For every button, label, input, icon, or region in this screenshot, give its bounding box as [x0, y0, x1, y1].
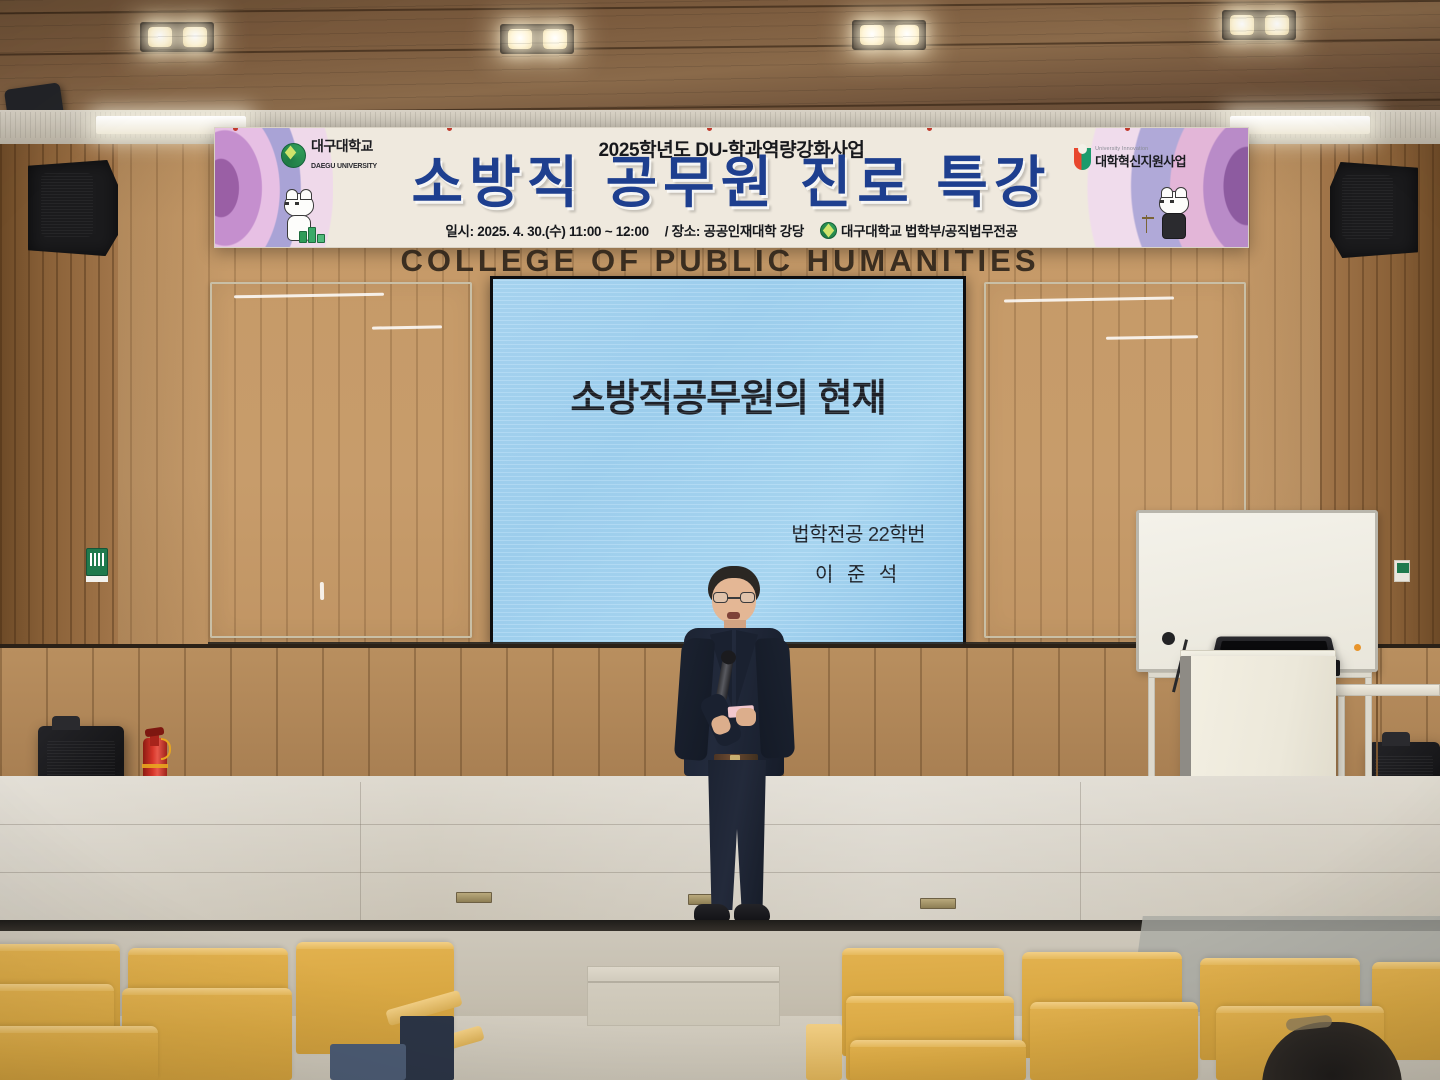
- stage-tile-seam: [360, 782, 361, 926]
- stage-floor-outlet: [920, 898, 956, 909]
- event-banner: 대구대학교 DAEGU UNIVERSITY University Innova…: [214, 127, 1249, 248]
- presenter-arm-right: [755, 637, 795, 759]
- slide-title: 소방직공무원의 현재: [493, 367, 963, 422]
- auditorium-seat-back[interactable]: [0, 1026, 158, 1080]
- cove-light: [1230, 116, 1370, 134]
- banner-main-title: 소방직 공무원 진로 특강: [215, 154, 1248, 213]
- presenter: [672, 566, 796, 932]
- banner-dept-label: 대구대학교 법학부/공직법무전공: [841, 220, 1018, 240]
- whiteboard-magnet-icon: [1354, 644, 1361, 651]
- ceiling-seam: [0, 0, 1440, 15]
- college-wall-lettering: COLLEGE OF PUBLIC HUMANITIES: [0, 243, 1440, 279]
- banner-date: 일시: 2025. 4. 30.(수) 11:00 ~ 12:00: [445, 220, 648, 240]
- seat-side-panel: [400, 1016, 454, 1080]
- wall-speaker-left: [28, 160, 118, 256]
- ceiling-seam: [0, 38, 1440, 56]
- ceiling: [0, 0, 1440, 118]
- presenter-mouth: [727, 612, 740, 619]
- tiger-mascot-left-icon: [277, 191, 321, 243]
- glasses-icon: [713, 592, 755, 603]
- daegu-university-emblem-small-icon: [820, 222, 837, 239]
- ceiling-downlight-icon: [1222, 10, 1296, 40]
- stage-step-block: [587, 966, 780, 1026]
- seat-armrest: [806, 1024, 842, 1080]
- ceiling-downlight-icon: [140, 22, 214, 52]
- exit-sign-base: [86, 576, 108, 582]
- stage-tile-seam: [1080, 782, 1081, 926]
- slide-affiliation: 법학전공 22학번: [791, 524, 925, 546]
- tiger-mascot-judge-icon: [1152, 189, 1196, 241]
- auditorium-photo: 대구대학교 DAEGU UNIVERSITY University Innova…: [0, 0, 1440, 1080]
- banner-subline: 일시: 2025. 4. 30.(수) 11:00 ~ 12:00 / 장소: …: [215, 220, 1248, 240]
- banner-pins: [215, 127, 1248, 134]
- auditorium-seat-back[interactable]: [850, 1040, 1026, 1080]
- exit-sign-icon: [86, 548, 108, 576]
- door-exit-sign-icon: [1394, 560, 1410, 582]
- auditorium-seat-back[interactable]: [1030, 1002, 1198, 1080]
- slide-presenter-name: 이 준 석: [791, 555, 925, 595]
- banner-dept: 대구대학교 법학부/공직법무전공: [820, 220, 1018, 240]
- stage-floor-outlet: [456, 892, 492, 903]
- presenter-trousers: [708, 760, 766, 910]
- ceiling-downlight-icon: [500, 24, 574, 54]
- slide-byline: 법학전공 22학번 이 준 석: [791, 515, 925, 595]
- side-door[interactable]: [1376, 470, 1440, 780]
- presenter-hand-holding-note: [736, 708, 756, 726]
- banner-venue: / 장소: 공공인재대학 강당: [665, 220, 804, 240]
- seat-cushion: [330, 1044, 406, 1080]
- wall-whiteboard-left: [210, 282, 472, 638]
- ceiling-downlight-icon: [852, 20, 926, 50]
